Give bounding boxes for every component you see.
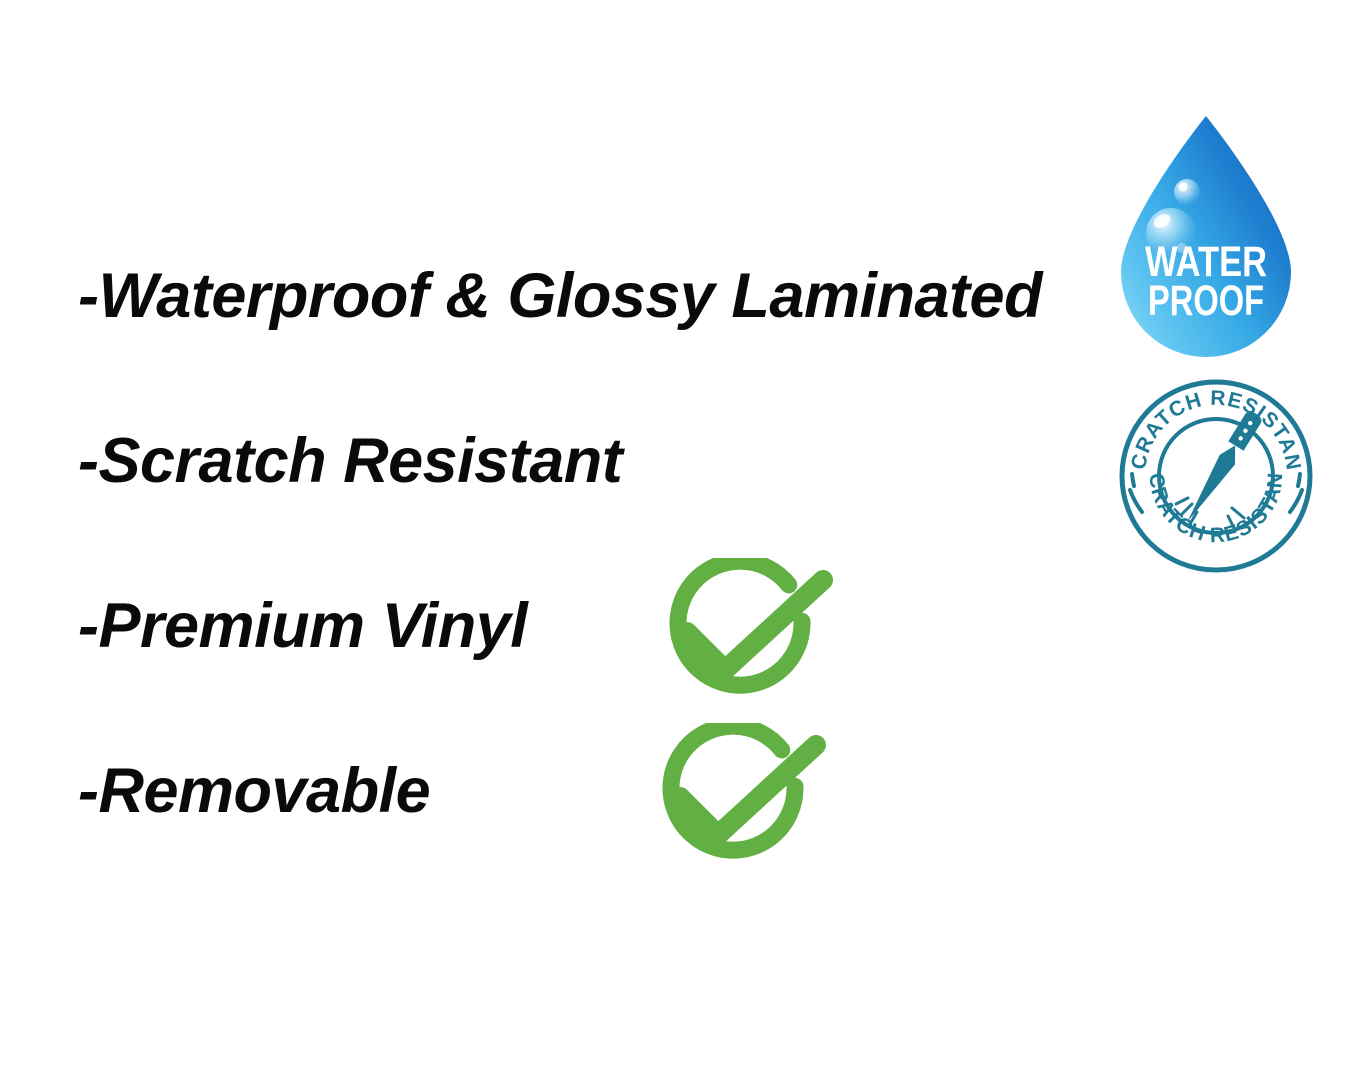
- stamp-dash-left-2: [1132, 474, 1134, 486]
- stamp-text-top: SCRATCH RESISTANT: [1118, 378, 1305, 472]
- stamp-dash-right-2: [1298, 474, 1300, 486]
- waterproof-line2: PROOF: [1148, 277, 1264, 325]
- list-item: -Removable: [78, 753, 1088, 918]
- feature-highlights-graphic: -Waterproof & Glossy Laminated -Scratch …: [0, 0, 1359, 1080]
- stamp-dash-right: [1290, 490, 1302, 512]
- feature-label-waterproof-glossy-laminated: -Waterproof & Glossy Laminated: [78, 258, 1042, 334]
- waterproof-badge: WATER PROOF: [1106, 100, 1306, 366]
- list-item: -Premium Vinyl: [78, 588, 1088, 753]
- feature-label-premium-vinyl: -Premium Vinyl: [78, 588, 527, 664]
- stamp-dash-left: [1130, 490, 1142, 512]
- list-item: -Scratch Resistant: [78, 423, 1088, 588]
- feature-label-removable: -Removable: [78, 753, 430, 829]
- check-circle-icon: [645, 558, 837, 708]
- check-circle-icon: [638, 723, 830, 873]
- scratch-resistant-badge: SCRATCH RESISTANT SCRATCH RESISTANT: [1118, 378, 1314, 574]
- feature-label-scratch-resistant: -Scratch Resistant: [78, 423, 622, 499]
- feature-list: -Waterproof & Glossy Laminated -Scratch …: [78, 258, 1088, 918]
- list-item: -Waterproof & Glossy Laminated: [78, 258, 1088, 423]
